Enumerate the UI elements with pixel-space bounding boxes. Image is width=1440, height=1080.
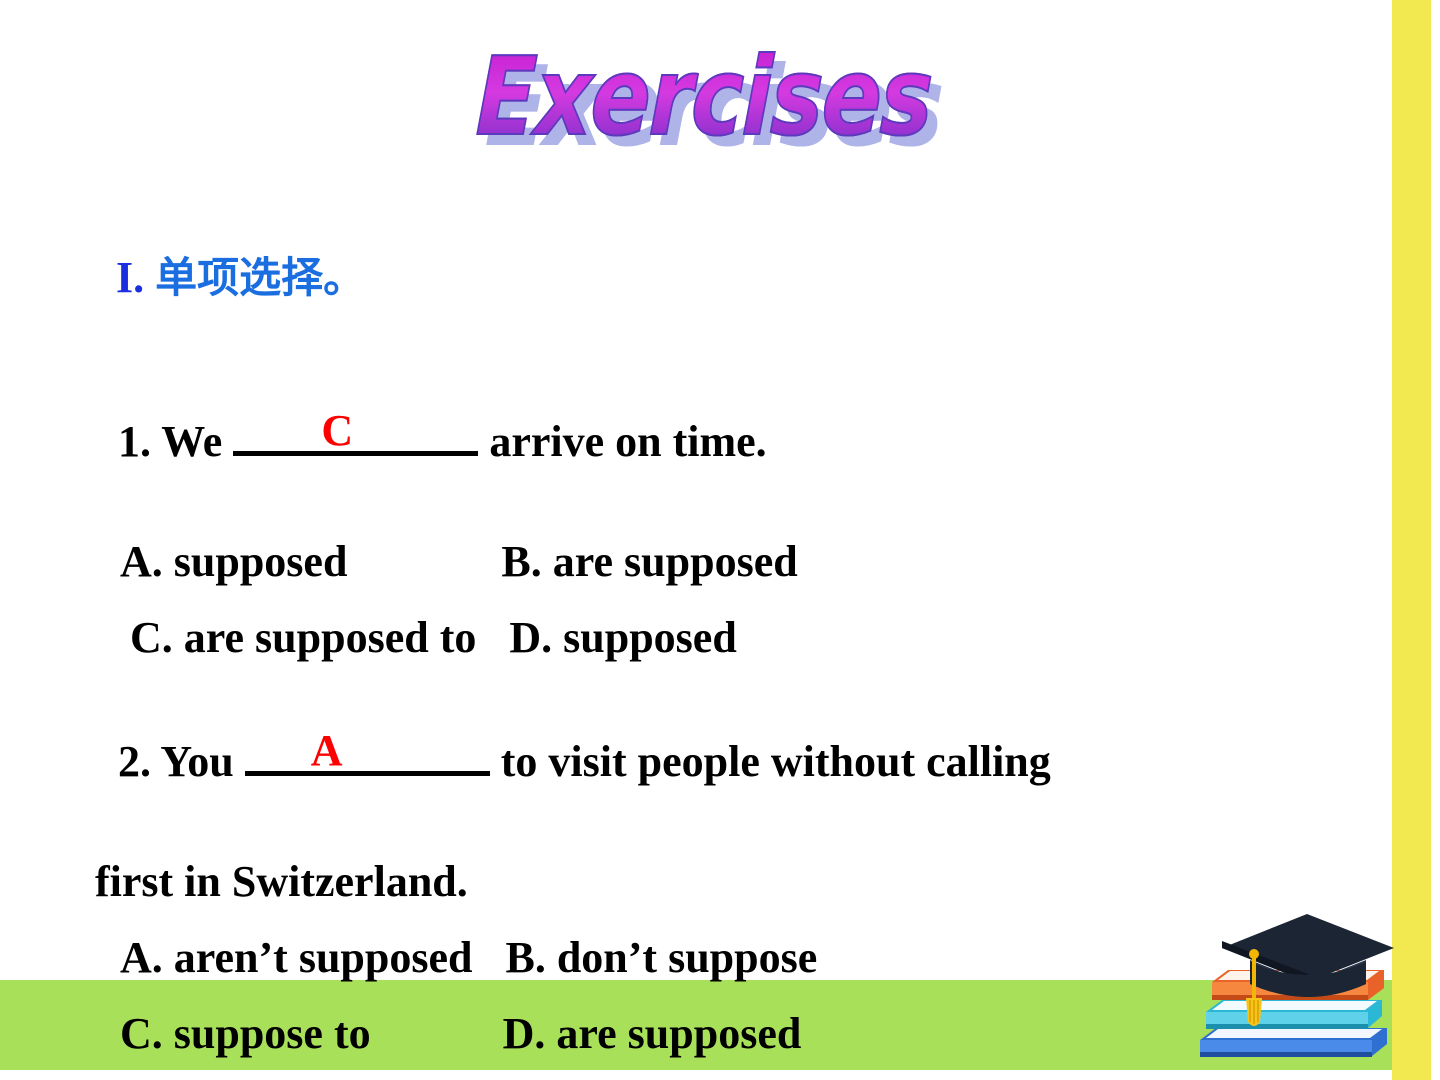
question-2-blank[interactable]: A: [245, 771, 490, 776]
slide-title-text: Exercises: [475, 44, 933, 152]
question-1-options-row-2[interactable]: C. are supposed to D. supposed: [0, 616, 1392, 660]
question-1-stem: 1. We C arrive on time.: [0, 376, 1392, 508]
question-1-answer: C: [321, 409, 353, 453]
section-label: 单项选择。: [155, 253, 365, 302]
decorative-right-bar-edge: [1431, 0, 1440, 1080]
slide-title: Exercises Exercises: [470, 30, 1030, 190]
question-2-stem-after: to visit people without calling: [490, 737, 1051, 786]
question-2-answer: A: [311, 729, 343, 773]
question-2-stem-before: You: [160, 737, 244, 786]
slide-canvas: Exercises Exercises I. 单项选择。 1. We C arr…: [0, 0, 1440, 1080]
question-1-stem-after: arrive on time.: [478, 417, 766, 466]
section-number: I.: [116, 253, 144, 302]
question-2-number: 2.: [118, 737, 151, 786]
question-1-number: 1.: [118, 417, 151, 466]
section-heading: I. 单项选择。: [0, 212, 1392, 344]
question-1-blank[interactable]: C: [233, 451, 478, 456]
books-and-graduation-cap-illustration: [1182, 888, 1402, 1078]
question-1-stem-before: We: [161, 417, 233, 466]
question-2-stem: 2. You A to visit people without calling: [0, 696, 1392, 828]
question-1-options-row-1[interactable]: A. supposed B. are supposed: [0, 540, 1392, 584]
